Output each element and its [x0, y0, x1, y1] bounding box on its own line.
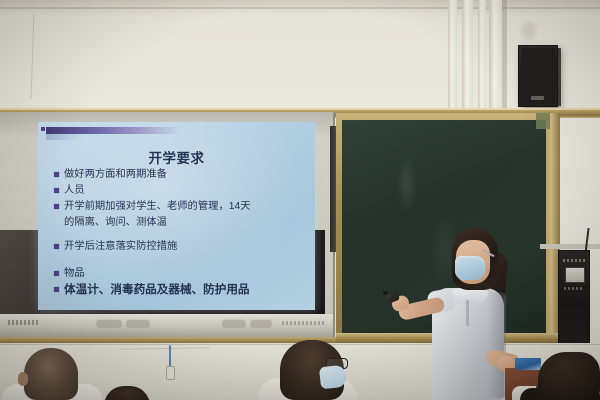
bullet-gap [54, 256, 306, 267]
bullet-square-icon [54, 287, 59, 292]
bezel-text-marking [282, 321, 324, 325]
slide-bullet-list: 做好两方面和两期准备 人员 开学前期加强对学生、老师的管理，14天 的隔离、询问… [54, 168, 306, 299]
bezel-button[interactable] [250, 319, 272, 328]
bullet-text: 开学前期加强对学生、老师的管理，14天 [64, 200, 251, 213]
slide-title: 开学要求 [38, 147, 315, 167]
wall-pilaster [448, 0, 457, 108]
pilaster-shadow [502, 0, 507, 113]
bezel-button[interactable] [96, 319, 122, 328]
audience-head [24, 348, 78, 400]
bullet-gap [54, 229, 306, 240]
brand-label [8, 320, 40, 325]
wall-pilaster [489, 0, 502, 113]
wall-amplifier[interactable] [558, 250, 590, 357]
wall-smudge [522, 22, 536, 40]
list-item: 做好两方面和两期准备 [54, 168, 306, 181]
list-item: 体温计、消毒药品及器械、防护用品 [54, 283, 306, 296]
whiteboard-bezel [0, 314, 333, 337]
amplifier-label [564, 287, 582, 290]
wall-seam [0, 7, 600, 9]
wall-speaker-icon [518, 45, 558, 107]
wall-trim-highlight [0, 108, 600, 110]
blue-box-on-podium [515, 358, 541, 370]
bullet-text: 开学后注意落实防控措施 [64, 240, 177, 253]
bullet-text: 人员 [64, 184, 85, 197]
audience-head [538, 352, 600, 400]
list-item: 人员 [54, 184, 306, 197]
bullet-continuation-text: 的隔离、询问、测体温 [64, 216, 306, 229]
bullet-square-icon [54, 204, 59, 209]
wall-shelf [540, 244, 600, 249]
presenter-shading [488, 292, 506, 398]
cable-plug [166, 366, 175, 380]
bezel-button[interactable] [222, 319, 246, 328]
list-item: 开学后注意落实防控措施 [54, 240, 306, 253]
slide-decor-fade [46, 134, 82, 140]
amplifier-label [563, 259, 585, 262]
speaker-badge [531, 96, 544, 100]
bullet-text: 物品 [64, 267, 85, 280]
list-item: 开学前期加强对学生、老师的管理，14天 [54, 200, 306, 213]
chalkboard-corner-bracket [536, 113, 550, 129]
bullet-text: 体温计、消毒药品及器械、防护用品 [64, 283, 250, 296]
bullet-text: 做好两方面和两期准备 [64, 168, 167, 181]
bullet-square-icon [54, 172, 59, 177]
bullet-square-icon [54, 271, 59, 276]
audience-ear [18, 372, 28, 386]
wall-pilaster [462, 0, 473, 110]
presentation-slide: 开学要求 做好两方面和两期准备 人员 开学前期加强对学生、老师的管理，14天 的… [38, 122, 315, 310]
wall-pilaster [478, 0, 486, 112]
amplifier-display [565, 267, 585, 283]
list-item: 物品 [54, 267, 306, 280]
bullet-square-icon [54, 244, 59, 249]
hanging-cable [169, 345, 171, 367]
face-mask-icon [455, 256, 485, 280]
bezel-button[interactable] [126, 319, 150, 328]
slide-decor-bar [46, 127, 180, 134]
bullet-square-icon [54, 188, 59, 193]
presenter-shirt-placket [466, 300, 469, 326]
classroom-photo: 开学要求 做好两方面和两期准备 人员 开学前期加强对学生、老师的管理，14天 的… [0, 0, 600, 400]
slide-decor-square [41, 127, 45, 131]
chalk-smudge [398, 155, 416, 215]
